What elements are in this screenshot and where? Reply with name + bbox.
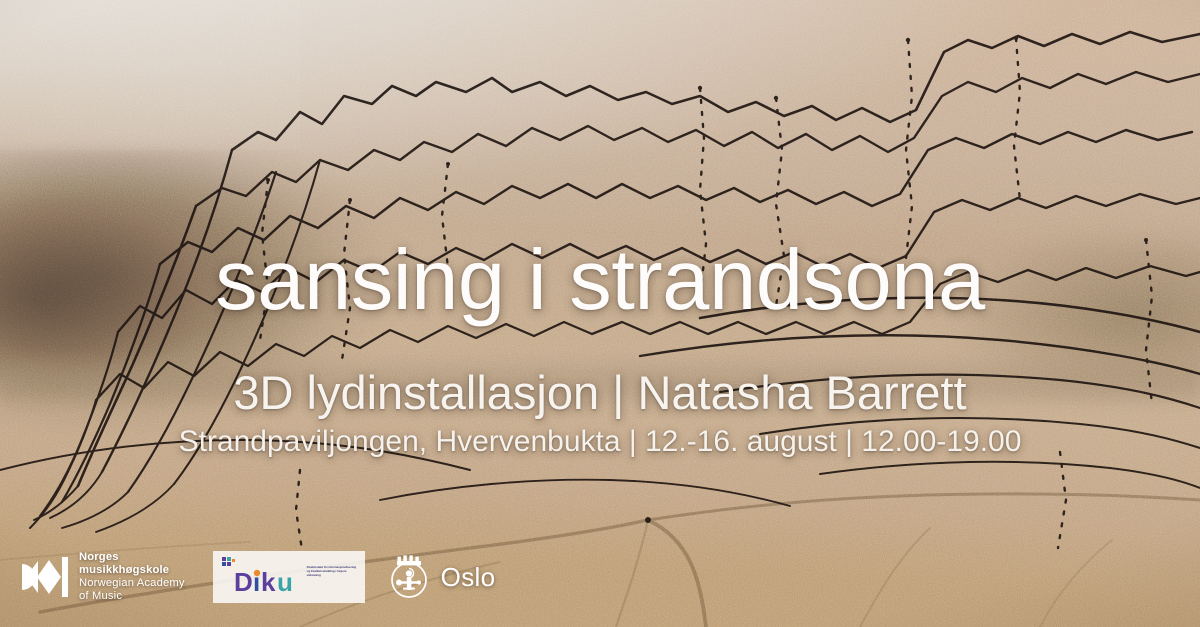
nmh-wordmark: Norges musikkhøgskole Norwegian Academy … (79, 551, 185, 603)
diku-tagline: Direktoratet for internasjonalisering og… (307, 566, 359, 577)
nmh-mark-icon (22, 557, 68, 597)
nmh-line-4: of Music (79, 590, 185, 603)
diku-symbol-icon (222, 557, 235, 568)
nmh-line-2: musikkhøgskole (79, 564, 185, 577)
svg-text:u: u (277, 568, 293, 596)
poster-canvas: sansing i strandsona 3D lydinstallasjon … (0, 0, 1200, 627)
vignette-overlay (0, 0, 1200, 627)
nmh-line-1: Norges (79, 551, 185, 564)
diku-wordmark-icon: D i k u (234, 568, 304, 596)
logo-norges-musikkhogskole: Norges musikkhøgskole Norwegian Academy … (22, 545, 185, 609)
oslo-wordmark: Oslo (441, 562, 496, 593)
svg-text:k: k (261, 568, 276, 596)
logo-strip: Norges musikkhøgskole Norwegian Academy … (22, 545, 495, 609)
logo-diku-plate: D i k u Direktoratet for internasjonalis… (213, 551, 365, 603)
oslo-seal-icon (387, 554, 431, 600)
logo-diku-container: D i k u Direktoratet for internasjonalis… (185, 545, 365, 609)
nmh-line-3: Norwegian Academy (79, 577, 185, 590)
logo-oslo-kommune: Oslo (387, 545, 496, 609)
svg-text:D: D (234, 568, 253, 596)
